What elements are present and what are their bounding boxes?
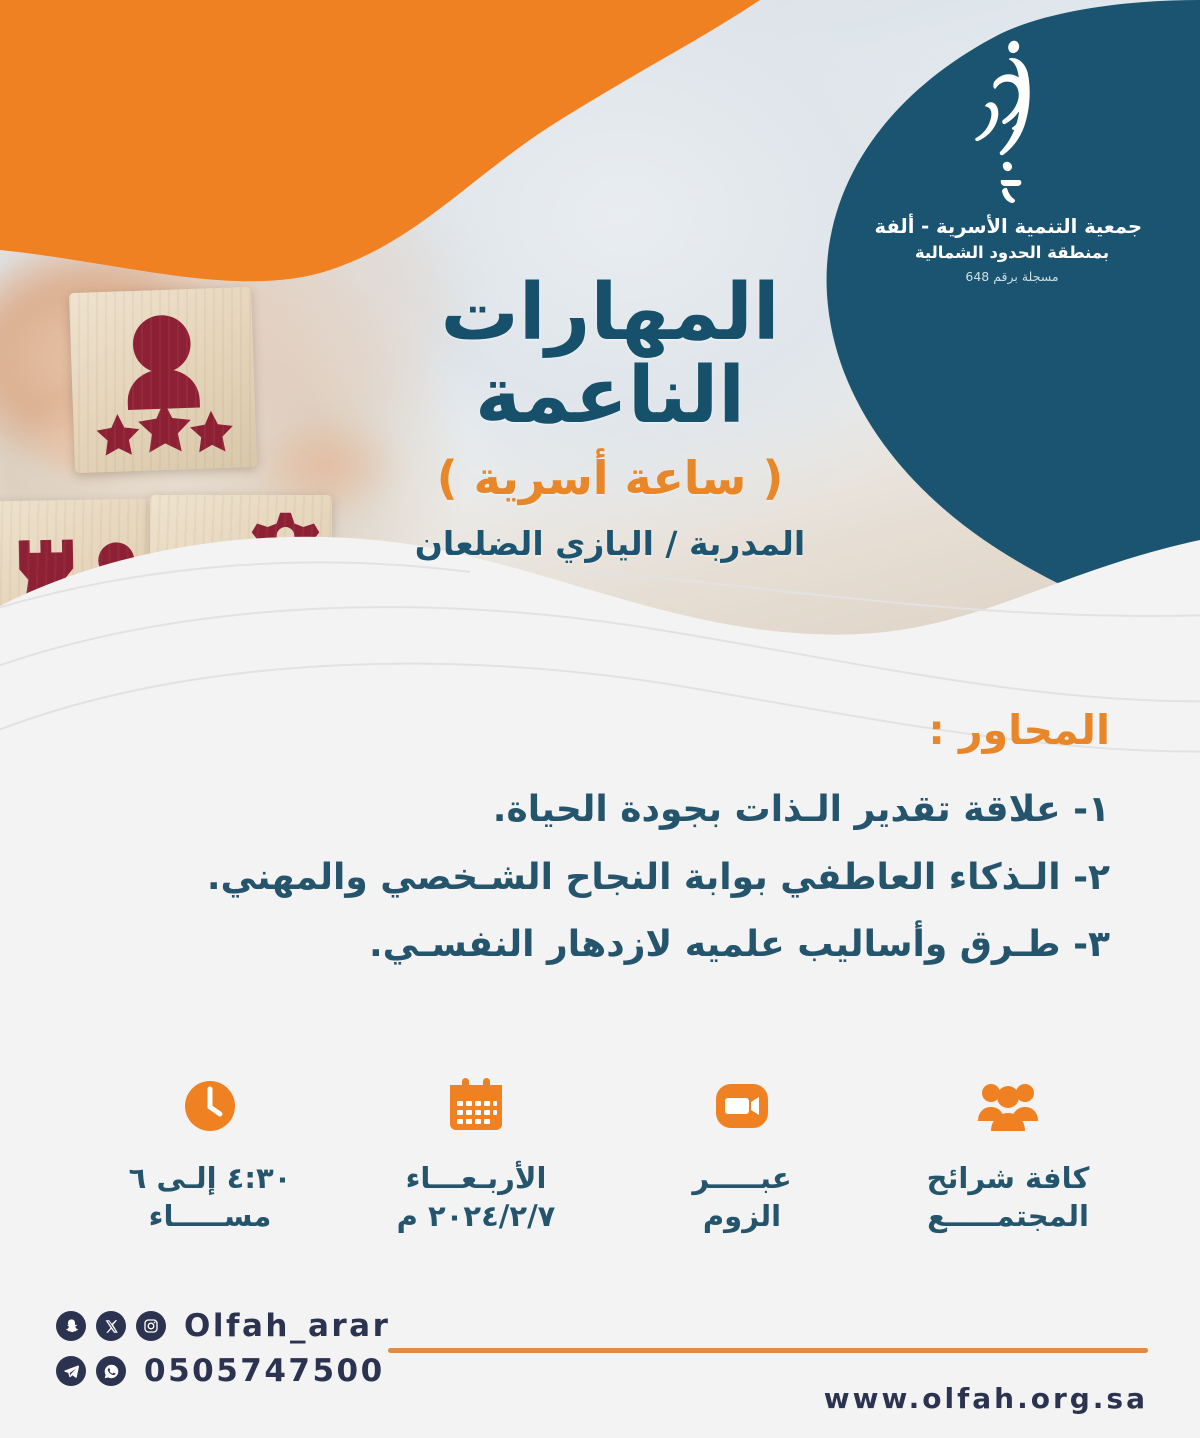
event-info-row: ٤:٣٠ إلـى ٦ مســـــاء: [0, 1075, 1200, 1236]
telegram-icon[interactable]: [56, 1356, 86, 1386]
title-line-2: الناعمة: [350, 355, 870, 438]
title-subtitle: ( ساعة أسرية ): [350, 453, 870, 504]
logo-org-region: بمنطقة الحدود الشمالية: [882, 241, 1142, 264]
footer-divider: [388, 1348, 1148, 1353]
info-cell-audience: كافة شرائح المجتمـــــع: [908, 1075, 1108, 1236]
trainer-name: المدربة / اليازي الضلعان: [350, 524, 870, 563]
title-block: المهارات الناعمة ( ساعة أسرية ) المدربة …: [350, 272, 870, 563]
people-group-icon: [908, 1075, 1108, 1137]
info-label-platform: عبـــــر الزوم: [642, 1159, 842, 1236]
info-cell-date: الأربـعـــاء ٢٠٢٤/٢/٧ م: [376, 1075, 576, 1236]
phone-text: 0505747500: [144, 1353, 385, 1389]
website-url[interactable]: www.olfah.org.sa: [824, 1382, 1148, 1415]
info-cell-platform: عبـــــر الزوم: [642, 1075, 842, 1236]
topic-item: ٣- طـرق وأساليب علميه لازدهار النفسـي.: [0, 925, 1110, 965]
logo-registration-number: مسجلة برقم 648: [882, 269, 1142, 284]
info-label-date: الأربـعـــاء ٢٠٢٤/٢/٧ م: [376, 1159, 576, 1236]
snapchat-icon[interactable]: [56, 1311, 86, 1341]
info-label-time: ٤:٣٠ إلـى ٦ مســـــاء: [110, 1159, 310, 1236]
topics-section: المحاور : ١- علاقة تقدير الـذات بجودة ال…: [0, 706, 1200, 993]
social-handle-text: Olfah_arar: [184, 1308, 390, 1344]
zoom-video-icon: [642, 1075, 842, 1137]
topic-item: ١- علاقة تقدير الـذات بجودة الحياة.: [0, 790, 1110, 830]
olfah-calligraphy-icon: [949, 36, 1075, 204]
title-line-1: المهارات: [350, 272, 870, 355]
info-cell-time: ٤:٣٠ إلـى ٦ مســـــاء: [110, 1075, 310, 1236]
footer: Olfah_arar 0505747500 www.olfah.org.sa: [0, 1300, 1200, 1438]
social-handle-line: Olfah_arar: [56, 1308, 390, 1344]
whatsapp-icon[interactable]: [96, 1356, 126, 1386]
topics-heading: المحاور :: [0, 706, 1110, 754]
logo-org-name: جمعية التنمية الأسرية - ألفة: [882, 214, 1142, 240]
instagram-icon[interactable]: [136, 1311, 166, 1341]
poster-root: جمعية التنمية الأسرية - ألفة بمنطقة الحد…: [0, 0, 1200, 1438]
clock-icon: [110, 1075, 310, 1137]
organization-logo: جمعية التنمية الأسرية - ألفة بمنطقة الحد…: [882, 30, 1142, 284]
info-label-audience: كافة شرائح المجتمـــــع: [908, 1159, 1108, 1236]
calendar-icon: [376, 1075, 576, 1137]
x-twitter-icon[interactable]: [96, 1311, 126, 1341]
phone-line: 0505747500: [56, 1353, 390, 1389]
contact-block: Olfah_arar 0505747500: [56, 1308, 390, 1398]
topic-item: ٢- الـذكاء العاطفي بوابة النجاح الشـخصي …: [0, 858, 1110, 898]
